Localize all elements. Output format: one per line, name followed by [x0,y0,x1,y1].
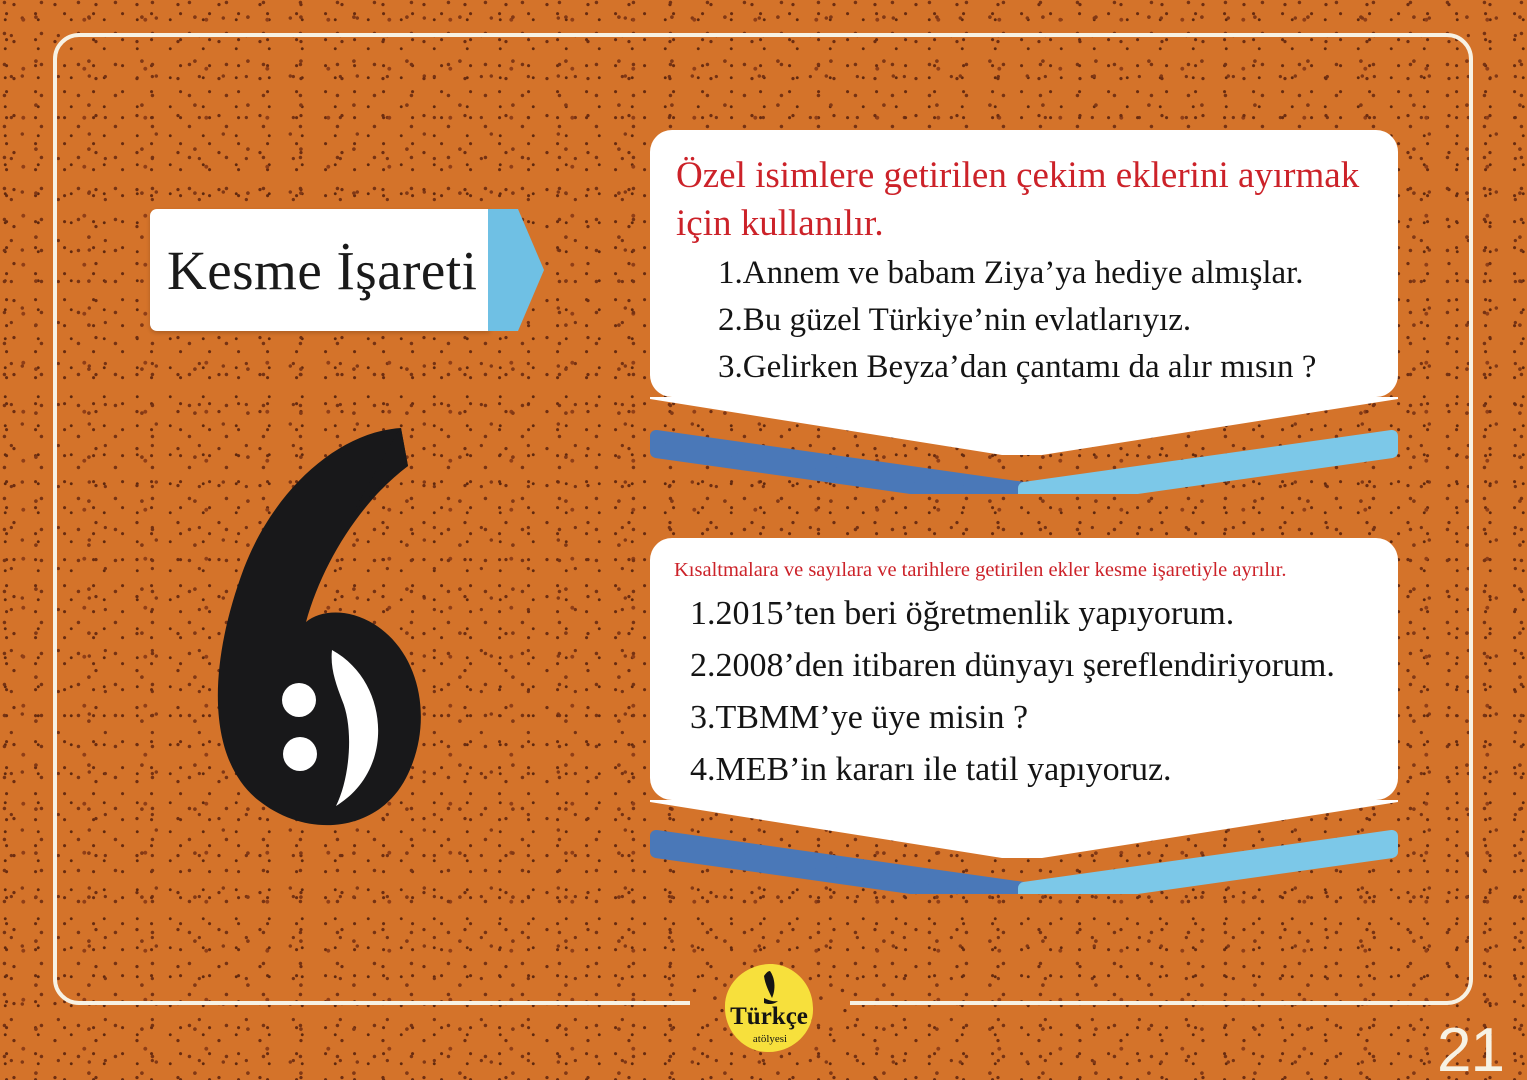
rule-card-2: Kısaltmalara ve sayılara ve tarihlere ge… [650,538,1398,858]
pentagon-arrow-right-icon [488,209,544,331]
rule-card-2-body: Kısaltmalara ve sayılara ve tarihlere ge… [650,538,1398,800]
list-item: 2.2008’den itibaren dünyayı şereflendiri… [674,640,1374,692]
rule-card-1-ribbon [650,430,1398,494]
rule-card-1-examples: 1.Annem ve babam Ziya’ya hediye almışlar… [676,250,1372,391]
page-number: 21 [1437,1015,1504,1080]
topic-title-label: Kesme İşareti [150,209,490,331]
worksheet-page: Kesme İşareti Özel isimlere getirilen çe… [0,0,1527,1080]
logo-primary-text: Türkçe [730,1003,808,1030]
rule-card-1: Özel isimlere getirilen çekim eklerini a… [650,130,1398,455]
list-item: 2.Bu güzel Türkiye’nin evlatlarıyız. [676,297,1372,344]
list-item: 1.2015’ten beri öğretmenlik yapıyorum. [674,588,1374,640]
turkce-atolyesi-logo: Türkçe atölyesi [723,962,815,1054]
rule-card-1-body: Özel isimlere getirilen çekim eklerini a… [650,130,1398,397]
list-item: 3.TBMM’ye üye misin ? [674,692,1374,744]
rule-card-2-ribbon [650,830,1398,894]
rule-card-2-heading: Kısaltmalara ve sayılara ve tarihlere ge… [674,558,1374,584]
rule-card-2-examples: 1.2015’ten beri öğretmenlik yapıyorum. 2… [674,588,1374,796]
list-item: 4.MEB’in kararı ile tatil yapıyoruz. [674,744,1374,796]
list-item: 3.Gelirken Beyza’dan çantamı da alır mıs… [676,344,1372,391]
page-title: Kesme İşareti [150,239,477,302]
apostrophe-smiley-icon [196,428,452,832]
list-item: 1.Annem ve babam Ziya’ya hediye almışlar… [676,250,1372,297]
logo-secondary-text: atölyesi [753,1033,787,1045]
rule-card-1-heading: Özel isimlere getirilen çekim eklerini a… [676,152,1372,248]
